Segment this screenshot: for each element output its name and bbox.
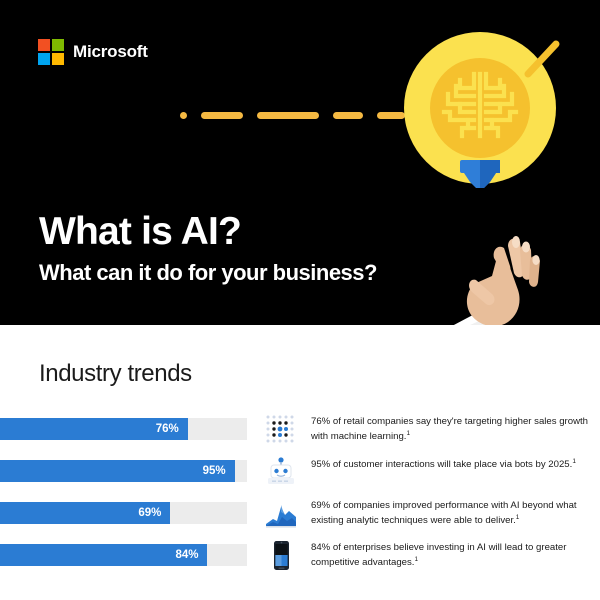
dash-segment: [377, 112, 405, 119]
trend-description-text: 76% of retail companies say they're targ…: [311, 416, 588, 442]
bulb-highlight-stem: [522, 38, 564, 80]
trend-row: 76% 76% of: [0, 411, 600, 453]
footnote-marker: 1: [572, 458, 576, 465]
bar-track: 76%: [0, 418, 247, 440]
trends-list: 76% 76% of: [0, 411, 600, 579]
trend-description-text: 69% of companies improved performance wi…: [311, 500, 577, 526]
bar-value-label: 76%: [156, 423, 179, 435]
page-title: What is AI?: [39, 212, 241, 253]
logo-square-yellow: [52, 53, 64, 65]
bar-fill: 76%: [0, 418, 188, 440]
infographic-page: Microsoft: [0, 0, 600, 600]
brain-circuit-icon: [430, 58, 530, 158]
footnote-marker: 1: [406, 430, 410, 437]
trend-row: 95% 95% of customer interactions will ta…: [0, 453, 600, 495]
bar-value-label: 84%: [175, 549, 198, 561]
industry-trends-heading: Industry trends: [39, 360, 192, 388]
trend-description-text: 84% of enterprises believe investing in …: [311, 542, 566, 568]
footnote-marker: 1: [414, 556, 418, 563]
bar-fill: 84%: [0, 544, 207, 566]
trend-description-text: 95% of customer interactions will take p…: [311, 459, 572, 470]
page-subtitle: What can it do for your business?: [39, 260, 377, 285]
trend-description: 95% of customer interactions will take p…: [311, 457, 589, 472]
hero-section: Microsoft: [0, 0, 600, 325]
trend-description: 76% of retail companies say they're targ…: [311, 415, 589, 443]
logo-square-blue: [38, 53, 50, 65]
dash-dot: [180, 112, 187, 119]
microsoft-wordmark: Microsoft: [73, 42, 148, 62]
trend-description: 69% of companies improved performance wi…: [311, 499, 589, 527]
hand-illustration: [452, 222, 548, 325]
dash-segment: [257, 112, 319, 119]
lightbulb-illustration: [404, 32, 564, 192]
trend-description: 84% of enterprises believe investing in …: [311, 541, 589, 569]
area-chart-icon: [264, 497, 298, 531]
dash-segment: [201, 112, 243, 119]
bar-fill: 95%: [0, 460, 235, 482]
trend-row: 69% 69% of companies improved performanc…: [0, 495, 600, 537]
bar-fill: 69%: [0, 502, 170, 524]
trend-row: 84% 84% of enterprises believe investing…: [0, 537, 600, 579]
chat-bot-icon: [264, 455, 298, 489]
bar-track: 95%: [0, 460, 247, 482]
mobile-phone-icon: [264, 539, 298, 573]
dashed-connector-line: [180, 112, 419, 119]
dot-matrix-icon: [264, 413, 298, 447]
dash-segment: [333, 112, 363, 119]
logo-square-red: [38, 39, 50, 51]
bar-track: 84%: [0, 544, 247, 566]
bar-value-label: 95%: [203, 465, 226, 477]
microsoft-logo: Microsoft: [38, 39, 148, 65]
footnote-marker: 1: [516, 514, 520, 521]
microsoft-logo-squares: [38, 39, 64, 65]
bar-track: 69%: [0, 502, 247, 524]
bar-value-label: 69%: [138, 507, 161, 519]
logo-square-green: [52, 39, 64, 51]
